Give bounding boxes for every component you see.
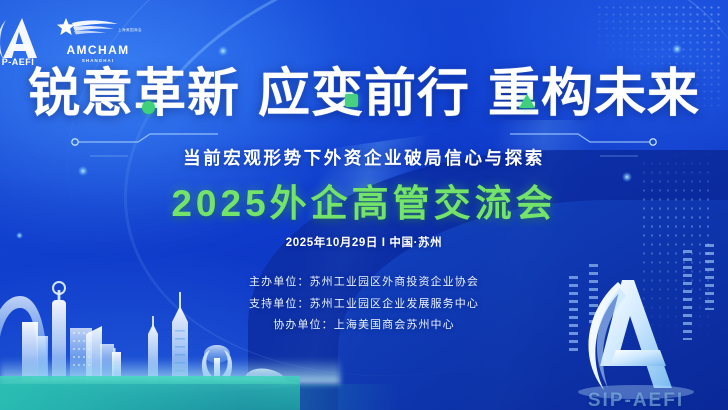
- sip-aefi-emblem-icon: [560, 266, 710, 406]
- event-title: 2025外企高管交流会: [0, 184, 728, 225]
- amcham-star-swoosh-icon: [52, 16, 144, 38]
- green-square-accent-icon: [345, 94, 358, 107]
- poster-subtitle: 当前宏观形势下外资企业破局信心与探索: [0, 145, 728, 170]
- green-dot-accent-icon: [142, 101, 155, 114]
- ground-strip-extension: [0, 384, 400, 410]
- light-spark-icon: [622, 172, 632, 182]
- sip-aefi-logo-icon: P-AEFI: [0, 14, 48, 66]
- headline-part-1: 锐意革新: [28, 65, 240, 123]
- headline-part-2: 应变前行: [258, 65, 470, 123]
- amcham-logo: AMCHAM SHANGHAI 上海美国商会: [52, 16, 144, 64]
- light-spark-icon: [218, 46, 228, 56]
- emblem-label: SIP-AEFI: [560, 390, 712, 410]
- light-spark-icon: [672, 44, 682, 54]
- event-date-location: 2025年10月29日 I 中国·苏州: [0, 234, 728, 250]
- event-poster: P-AEFI AMCHAM SHANGHAI 上海美国商会 锐意革新应变前行重构…: [0, 0, 728, 410]
- poster-headline: 锐意革新应变前行重构未来: [0, 68, 728, 120]
- amcham-subtitle: SHANGHAI: [52, 58, 144, 63]
- green-triangle-accent-icon: [519, 94, 535, 108]
- amcham-name: AMCHAM: [52, 44, 144, 56]
- amcham-chinese-name: 上海美国商会: [118, 28, 142, 33]
